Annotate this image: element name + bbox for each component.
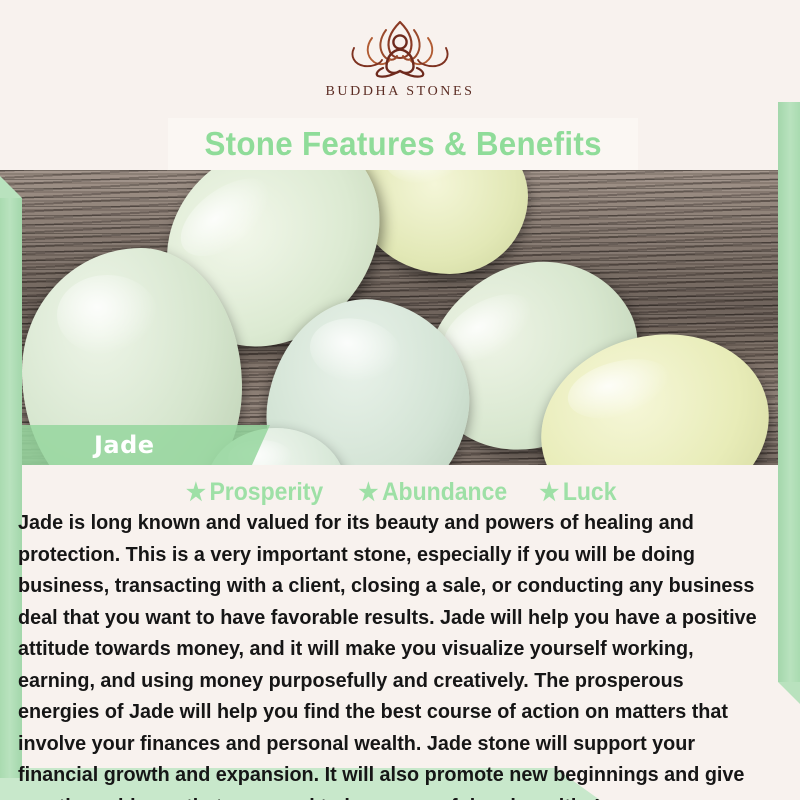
benefit-item-abundance: ★Abundance: [358, 478, 507, 507]
stone-photo: [0, 170, 800, 465]
brand-header: BUDDHA STONES: [0, 0, 800, 118]
benefits-row: ★Prosperity ★Abundance ★Luck: [0, 478, 800, 507]
benefit-label: Prosperity: [210, 478, 324, 506]
brand-wordmark: BUDDHA STONES: [325, 84, 474, 100]
lotus-meditation-icon: [340, 16, 460, 80]
benefit-label: Abundance: [382, 478, 507, 506]
stone-name-label: Jade: [94, 431, 155, 459]
benefit-item-luck: ★Luck: [539, 478, 616, 507]
page-title: Stone Features & Benefits: [204, 125, 601, 163]
stone-name-banner: Jade: [22, 425, 252, 465]
benefit-item-prosperity: ★Prosperity: [186, 478, 323, 507]
star-icon: ★: [539, 479, 559, 506]
page-title-band: Stone Features & Benefits: [168, 118, 638, 170]
benefit-label: Luck: [563, 478, 617, 506]
frame-bar-right: [778, 102, 800, 682]
description-text: Jade is long known and valued for its be…: [18, 508, 761, 800]
star-icon: ★: [186, 479, 206, 506]
star-icon: ★: [358, 479, 378, 506]
infographic-page: BUDDHA STONES Stone Features & Benefits …: [0, 0, 800, 800]
